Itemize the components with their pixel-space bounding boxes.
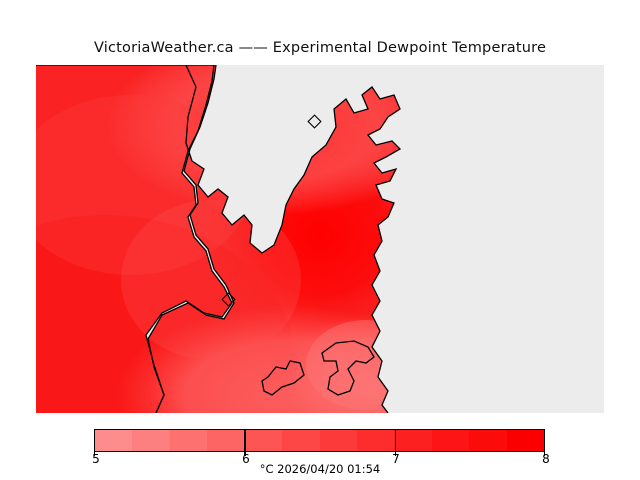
colorbar-swatch-1 (132, 430, 169, 451)
colorbar-swatch-0 (95, 430, 132, 451)
colorbar-swatch-9 (432, 430, 469, 451)
colorbar-caption: °C 2026/04/20 01:54 (0, 462, 640, 476)
page-title: VictoriaWeather.ca —— Experimental Dewpo… (0, 40, 640, 56)
colorbar-swatch-11 (507, 430, 544, 451)
colorbar-swatch-2 (170, 430, 207, 451)
map-canvas[interactable] (36, 65, 604, 413)
colorbar-swatch-3 (207, 430, 244, 451)
weather-map-page: VictoriaWeather.ca —— Experimental Dewpo… (0, 0, 640, 480)
colorbar-swatch-10 (469, 430, 506, 451)
colorbar-swatch-4 (245, 430, 282, 451)
colorbar-tick-7 (395, 429, 396, 452)
colorbar-tick-6 (244, 429, 245, 452)
colorbar-swatch-6 (320, 430, 357, 451)
colorbar-swatches (94, 429, 545, 452)
colorbar-swatch-7 (357, 430, 394, 451)
colorbar-swatch-8 (394, 430, 431, 451)
map-svg (36, 65, 604, 413)
colorbar[interactable] (94, 429, 545, 452)
colorbar-swatch-5 (282, 430, 319, 451)
